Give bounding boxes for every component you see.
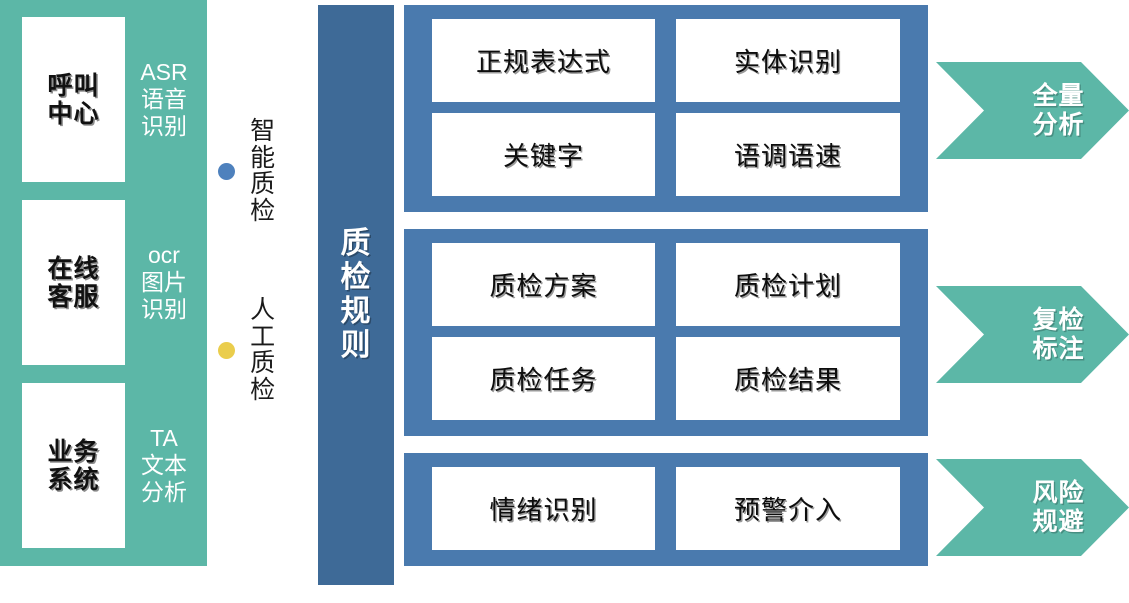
- source-box-online-service-label: 在线客服: [46, 255, 101, 311]
- source-box-online-service[interactable]: 在线客服: [22, 200, 125, 365]
- outcome-arrow-risk-avoidance[interactable]: 风险规避: [936, 459, 1129, 556]
- cell-qc-scheme[interactable]: 质检方案: [432, 243, 655, 326]
- cell-qc-task[interactable]: 质检任务: [432, 337, 655, 420]
- diagram-canvas: 呼叫中心 ASR语音识别 在线客服 ocr图片识别 业务系统 TA文本分析 智能…: [0, 0, 1129, 603]
- qc-rules-bar-label: 质检规则: [338, 227, 374, 364]
- cell-early-warning-intervention-label: 预警介入: [734, 490, 842, 527]
- outcome-arrow-risk-avoidance-label: 风险规避: [1031, 479, 1086, 537]
- source-box-business-system-label: 业务系统: [46, 438, 101, 494]
- source-capability-asr: ASR语音识别: [134, 17, 194, 182]
- cell-entity-recognition[interactable]: 实体识别: [676, 19, 900, 102]
- source-box-call-center-label: 呼叫中心: [46, 72, 101, 128]
- outcome-arrow-recheck-annotation-label: 复检标注: [1031, 306, 1086, 364]
- bullet-dot-icon-yellow: [218, 342, 235, 359]
- cell-qc-plan-label: 质检计划: [734, 266, 842, 303]
- rules-panel-3: 情绪识别 预警介入: [404, 453, 928, 566]
- source-capability-ocr: ocr图片识别: [134, 200, 194, 365]
- bullet-dot-icon-blue: [218, 163, 235, 180]
- list-item-manual-inspection[interactable]: 人工质检: [218, 297, 278, 403]
- rules-panel-2: 质检方案 质检计划 质检任务 质检结果: [404, 229, 928, 436]
- source-capability-ta: TA文本分析: [134, 383, 194, 548]
- cell-keyword[interactable]: 关键字: [432, 113, 655, 196]
- cell-emotion-recognition[interactable]: 情绪识别: [432, 467, 655, 550]
- cell-early-warning-intervention[interactable]: 预警介入: [676, 467, 900, 550]
- source-capability-ocr-label: ocr图片识别: [140, 242, 188, 323]
- outcome-arrow-full-analysis-labelbox: 全量分析: [936, 62, 1129, 159]
- cell-entity-recognition-label: 实体识别: [734, 42, 842, 79]
- list-item-manual-inspection-label: 人工质检: [247, 297, 278, 403]
- cell-tone-and-speed[interactable]: 语调语速: [676, 113, 900, 196]
- cell-emotion-recognition-label: 情绪识别: [489, 490, 597, 527]
- cell-regular-expression[interactable]: 正规表达式: [432, 19, 655, 102]
- outcome-arrow-full-analysis-label: 全量分析: [1031, 82, 1086, 140]
- source-box-business-system[interactable]: 业务系统: [22, 383, 125, 548]
- qc-rules-bar[interactable]: 质检规则: [318, 5, 394, 585]
- inspection-mode-list: 智能质检 人工质检: [210, 0, 318, 603]
- rules-panel-1: 正规表达式 实体识别 关键字 语调语速: [404, 5, 928, 212]
- cell-tone-and-speed-label: 语调语速: [734, 136, 842, 173]
- outcome-arrow-recheck-annotation-labelbox: 复检标注: [936, 286, 1129, 383]
- list-item-smart-inspection-label: 智能质检: [247, 118, 278, 224]
- cell-qc-plan[interactable]: 质检计划: [676, 243, 900, 326]
- cell-qc-task-label: 质检任务: [489, 360, 597, 397]
- source-capability-ta-label: TA文本分析: [140, 425, 188, 506]
- cell-qc-result[interactable]: 质检结果: [676, 337, 900, 420]
- source-capability-asr-label: ASR语音识别: [140, 59, 188, 140]
- source-box-call-center[interactable]: 呼叫中心: [22, 17, 125, 182]
- outcome-arrow-recheck-annotation[interactable]: 复检标注: [936, 286, 1129, 383]
- list-item-smart-inspection[interactable]: 智能质检: [218, 118, 278, 224]
- cell-qc-result-label: 质检结果: [734, 360, 842, 397]
- cell-qc-scheme-label: 质检方案: [489, 266, 597, 303]
- outcome-arrow-risk-avoidance-labelbox: 风险规避: [936, 459, 1129, 556]
- cell-keyword-label: 关键字: [503, 136, 584, 173]
- outcome-arrow-full-analysis[interactable]: 全量分析: [936, 62, 1129, 159]
- cell-regular-expression-label: 正规表达式: [476, 42, 611, 79]
- data-sources-panel: 呼叫中心 ASR语音识别 在线客服 ocr图片识别 业务系统 TA文本分析: [0, 0, 207, 566]
